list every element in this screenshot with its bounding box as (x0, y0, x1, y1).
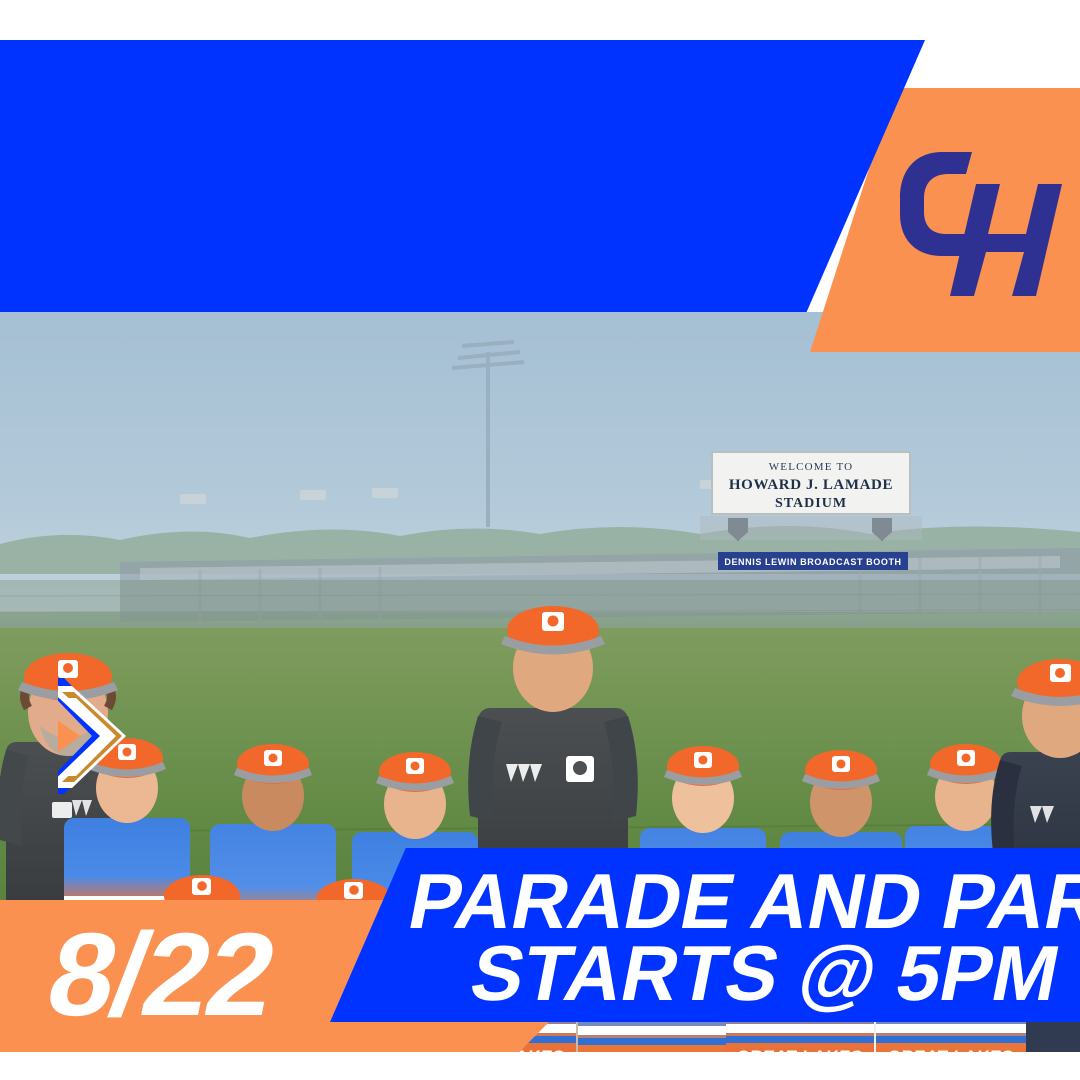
broadcast-booth-sign: DENNIS LEWIN BROADCAST BOOTH (718, 552, 908, 570)
svg-text:WELCOME TO: WELCOME TO (769, 461, 854, 473)
event-detail-line2: STARTS @ 5PM (465, 934, 1066, 1012)
svg-text:HOWARD J. LAMADE: HOWARD J. LAMADE (729, 477, 893, 493)
event-date: 8/22 (39, 916, 284, 1034)
svg-text:GREAT LAKES: GREAT LAKES (737, 1047, 863, 1052)
stadium-sign: WELCOME TO HOWARD J. LAMADE STADIUM (700, 452, 922, 541)
svg-text:GREAT LAKES: GREAT LAKES (888, 1047, 1014, 1052)
svg-text:STADIUM: STADIUM (775, 496, 847, 511)
header-banner (0, 40, 925, 312)
svg-text:GREAT LAKES: GREAT LAKES (589, 1049, 715, 1052)
svg-text:DENNIS LEWIN BROADCAST BOOTH: DENNIS LEWIN BROADCAST BOOTH (724, 557, 901, 567)
chevron-right-accent (58, 678, 166, 794)
ch-monogram-logo[interactable] (880, 140, 1080, 320)
poster-canvas: WELCOME TO HOWARD J. LAMADE STADIUM DENN… (0, 0, 1080, 1080)
